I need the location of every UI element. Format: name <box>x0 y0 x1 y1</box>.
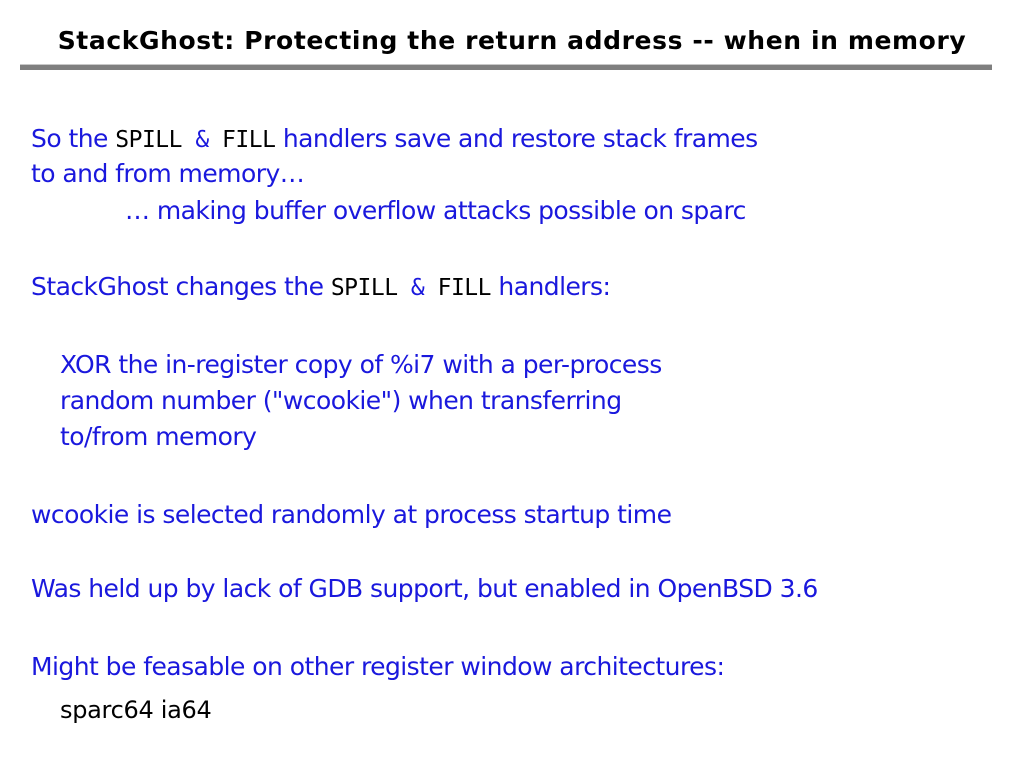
body-line-to-and-from-memory: to and from memory… <box>31 161 304 186</box>
body-line-xor-in-register-copy: XOR the in-register copy of %i7 with a p… <box>60 352 662 377</box>
slide-title: StackGhost: Protecting the return addres… <box>0 26 1024 55</box>
keyword-fill-2: FILL <box>438 275 491 301</box>
keyword-fill: FILL <box>222 127 275 153</box>
body-line-random-number-wcookie: random number ("wcookie") when transferr… <box>60 388 622 413</box>
body-line-other-architectures: Might be feasable on other register wind… <box>31 654 724 679</box>
keyword-spill: SPILL <box>115 127 182 153</box>
body-line-wcookie-selected-randomly: wcookie is selected randomly at process … <box>31 502 671 527</box>
slide-canvas: StackGhost: Protecting the return addres… <box>0 0 1024 768</box>
body-line-stackghost-changes-handlers: StackGhost changes the SPILL & FILL hand… <box>31 274 610 300</box>
body-line-spill-fill-handlers: So the SPILL & FILL handlers save and re… <box>31 126 758 152</box>
keyword-spill-2: SPILL <box>331 275 398 301</box>
text-so-the: So the <box>31 124 115 153</box>
text-handlers-save-restore: handlers save and restore stack frames <box>275 124 757 153</box>
ampersand-2: & <box>398 275 438 301</box>
body-line-gdb-openbsd-support: Was held up by lack of GDB support, but … <box>31 576 818 601</box>
title-divider-rule <box>20 64 992 70</box>
text-handlers-colon: handlers: <box>491 272 610 301</box>
body-line-to-from-memory: to/from memory <box>60 424 256 449</box>
body-line-arch-list: sparc64 ia64 <box>60 698 211 722</box>
body-line-buffer-overflow-sparc: … making buffer overflow attacks possibl… <box>125 198 746 223</box>
ampersand-1: & <box>182 127 222 153</box>
text-stackghost-changes: StackGhost changes the <box>31 272 331 301</box>
